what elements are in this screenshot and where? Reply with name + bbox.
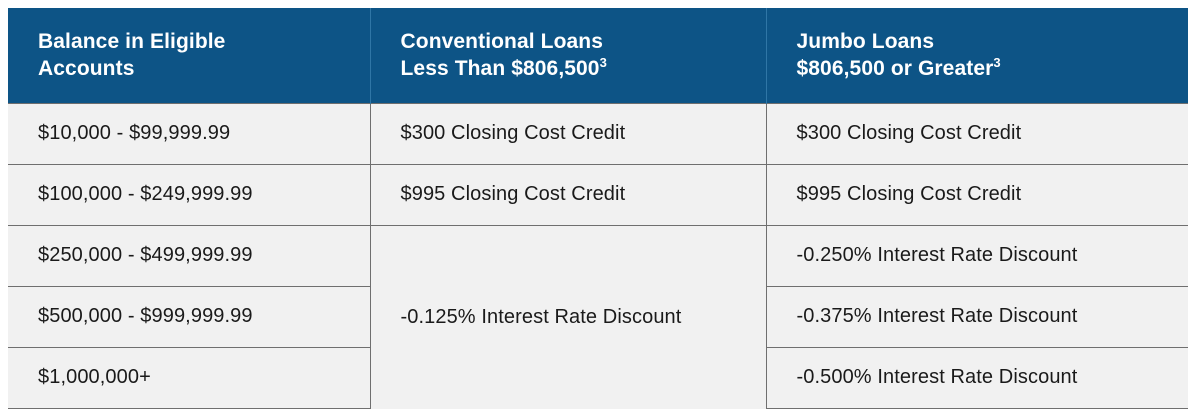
column-header-balance: Balance in Eligible Accounts [8, 8, 370, 103]
footnote-marker-jumbo: 3 [993, 55, 1000, 70]
cell-balance-range: $100,000 - $249,999.99 [8, 164, 370, 225]
cell-jumbo-benefit: -0.500% Interest Rate Discount [766, 347, 1188, 408]
column-header-jumbo-line-1: Jumbo Loans [797, 28, 1173, 56]
column-header-conventional-loans: Conventional Loans Less Than $806,5003 [370, 8, 766, 103]
cell-conventional-benefit-merged: -0.125% Interest Rate Discount [370, 225, 766, 408]
table-body: $10,000 - $99,999.99 $300 Closing Cost C… [8, 103, 1188, 409]
footnote-marker-conventional: 3 [600, 55, 607, 70]
cell-balance-range: $10,000 - $99,999.99 [8, 103, 370, 164]
cell-conventional-benefit: $995 Closing Cost Credit [370, 164, 766, 225]
table-row: $10,000 - $99,999.99 $300 Closing Cost C… [8, 103, 1188, 164]
cell-jumbo-benefit: $300 Closing Cost Credit [766, 103, 1188, 164]
column-header-balance-line-1: Balance in Eligible [38, 28, 354, 56]
relationship-pricing-benefits-table: Balance in Eligible Accounts Conventiona… [8, 8, 1188, 409]
cell-conventional-benefit: $300 Closing Cost Credit [370, 103, 766, 164]
cell-jumbo-benefit: -0.375% Interest Rate Discount [766, 286, 1188, 347]
column-header-conventional-line-2: Less Than $806,5003 [401, 55, 750, 83]
table-header: Balance in Eligible Accounts Conventiona… [8, 8, 1188, 103]
benefits-table-container: Balance in Eligible Accounts Conventiona… [8, 8, 1188, 409]
column-header-conventional-line-2-text: Less Than $806,500 [401, 57, 600, 80]
table-header-row: Balance in Eligible Accounts Conventiona… [8, 8, 1188, 103]
column-header-jumbo-loans: Jumbo Loans $806,500 or Greater3 [766, 8, 1188, 103]
column-header-balance-line-2: Accounts [38, 55, 354, 83]
column-header-conventional-line-1: Conventional Loans [401, 28, 750, 56]
column-header-jumbo-line-2: $806,500 or Greater3 [797, 55, 1173, 83]
cell-balance-range: $250,000 - $499,999.99 [8, 225, 370, 286]
cell-balance-range: $500,000 - $999,999.99 [8, 286, 370, 347]
cell-jumbo-benefit: $995 Closing Cost Credit [766, 164, 1188, 225]
table-row: $100,000 - $249,999.99 $995 Closing Cost… [8, 164, 1188, 225]
cell-jumbo-benefit: -0.250% Interest Rate Discount [766, 225, 1188, 286]
cell-balance-range: $1,000,000+ [8, 347, 370, 408]
column-header-jumbo-line-2-text: $806,500 or Greater [797, 57, 994, 80]
table-row: $250,000 - $499,999.99 -0.125% Interest … [8, 225, 1188, 286]
